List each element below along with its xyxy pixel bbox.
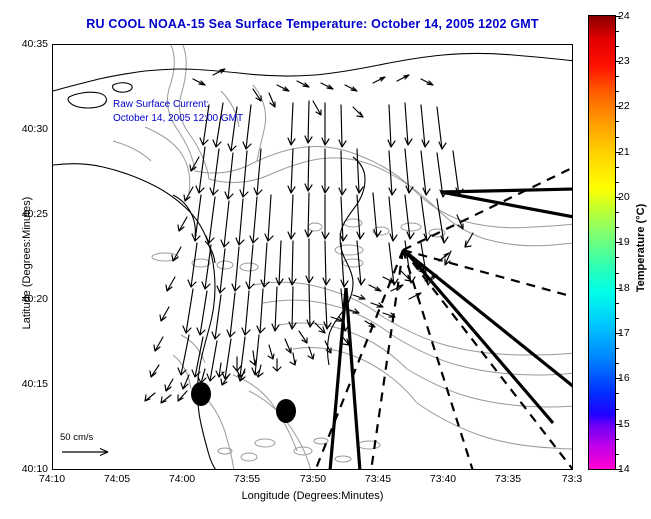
scale-bar-arrow-icon bbox=[60, 445, 120, 459]
x-tick-2: 74:00 bbox=[169, 473, 195, 485]
cb-tick-24: 24 bbox=[618, 10, 630, 22]
cb-tick-15: 15 bbox=[618, 418, 630, 430]
cb-tick-20: 20 bbox=[618, 191, 630, 203]
cb-tick-17: 17 bbox=[618, 327, 630, 339]
cb-tick-23: 23 bbox=[618, 55, 630, 67]
cb-tick-19: 19 bbox=[618, 236, 630, 248]
x-tick-3: 73:55 bbox=[234, 473, 260, 485]
sst-current-map: RU COOL NOAA-15 Sea Surface Temperature:… bbox=[0, 0, 651, 519]
x-tick-4: 73:50 bbox=[300, 473, 326, 485]
temperature-colorbar bbox=[588, 15, 616, 470]
y-tick-5: 40:10 bbox=[22, 463, 48, 475]
scale-bar-label: 50 cm/s bbox=[60, 432, 130, 443]
y-tick-1: 40:30 bbox=[22, 123, 48, 135]
colorbar-label: Temperature (°C) bbox=[635, 178, 647, 318]
y-axis-label: Latitude (Degrees:Minutes) bbox=[21, 163, 33, 363]
x-axis-label: Longitude (Degrees:Minutes) bbox=[52, 490, 573, 502]
y-tick-0: 40:35 bbox=[22, 38, 48, 50]
radar-coverage-sectors bbox=[330, 189, 573, 470]
y-tick-4: 40:15 bbox=[22, 378, 48, 390]
page-title: RU COOL NOAA-15 Sea Surface Temperature:… bbox=[52, 17, 573, 31]
velocity-scale-bar: 50 cm/s bbox=[60, 432, 130, 443]
x-tick-6: 73:40 bbox=[430, 473, 456, 485]
cb-tick-16: 16 bbox=[618, 372, 630, 384]
annotation-line-2: October 14, 2005 12:00 GMT bbox=[113, 113, 243, 124]
map-plot-area: Raw Surface Current: October 14, 2005 12… bbox=[52, 44, 573, 470]
x-tick-8: 73:3 bbox=[562, 473, 582, 485]
radar-station-markers bbox=[191, 382, 296, 423]
cb-tick-14: 14 bbox=[618, 463, 630, 475]
cb-tick-18: 18 bbox=[618, 282, 630, 294]
x-tick-1: 74:05 bbox=[104, 473, 130, 485]
annotation-line-1: Raw Surface Current: bbox=[113, 99, 209, 110]
cb-tick-21: 21 bbox=[618, 146, 630, 158]
x-tick-5: 73:45 bbox=[365, 473, 391, 485]
cb-tick-22: 22 bbox=[618, 100, 630, 112]
x-tick-7: 73:35 bbox=[495, 473, 521, 485]
